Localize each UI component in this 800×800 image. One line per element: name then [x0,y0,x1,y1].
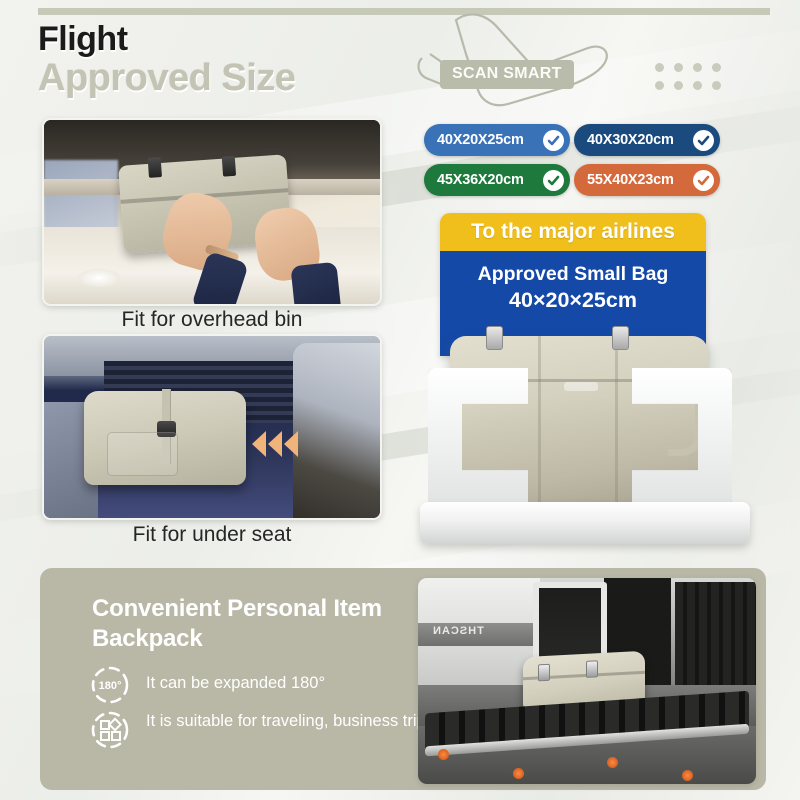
size-badge[interactable]: 45X36X20cm [424,164,570,196]
sizer-base [420,502,750,544]
photo-security-scanner: THSCAN [418,578,756,784]
sizer-demo [420,330,790,558]
photo-under-seat [42,334,382,520]
overhead-bin-scene [44,120,380,304]
under-seat-scene [44,336,380,518]
board-line-2: 40×20×25cm [440,287,706,314]
top-divider-rule [38,8,770,15]
scanner-brand-label: THSCAN [432,625,484,637]
arm-sleeve [290,261,341,306]
bag-clip-icon [612,326,629,350]
size-badge[interactable]: 55X40X23cm [574,164,720,196]
product-bag [84,391,245,486]
size-badge-label: 45X36X20cm [437,172,524,188]
infographic-page: Flight Approved Size SCAN SMART [0,0,800,800]
page-title: Flight Approved Size [38,20,295,100]
dot-grid-icon [655,63,722,90]
photo-overhead-bin [42,118,382,306]
check-circle-icon [693,130,714,151]
board-line-1: Approved Small Bag [440,262,706,287]
board-header-text: To the major airlines [440,213,706,251]
chevron-left-arrows-icon [252,431,298,457]
title-line-1: Flight [38,20,295,58]
check-circle-icon [543,170,564,191]
multi-use-squares-icon [88,708,132,752]
feature-bullet-text: It can be expanded 180° [146,663,325,694]
bag-clip-icon [486,326,503,350]
size-badge-label: 40X30X20cm [587,132,674,148]
feature-bullet: It is suitable for traveling, business t… [88,708,465,752]
bag-clip-icon [586,660,598,678]
size-badge[interactable]: 40X30X20cm [574,124,720,156]
size-badge-list: 40X20X25cm 40X30X20cm 45X36X20cm 55X40X2… [424,124,720,196]
bag-clip-icon [222,156,236,177]
expand-180-degrees-icon: 180° [88,663,132,707]
size-badge-label: 40X20X25cm [437,132,524,148]
check-circle-icon [693,170,714,191]
size-badge[interactable]: 40X20X25cm [424,124,570,156]
feature-panel-title: Convenient Personal Item Backpack [92,594,412,654]
scanner-scene: THSCAN [418,578,756,784]
caption-under-seat: Fit for under seat [42,523,382,547]
scan-smart-badge: SCAN SMART [440,60,574,89]
svg-text:180°: 180° [99,680,122,692]
bag-clip-icon [148,157,162,178]
feature-bullet: 180° It can be expanded 180° [88,663,325,707]
title-line-2: Approved Size [38,56,295,100]
check-circle-icon [543,130,564,151]
size-badge-label: 55X40X23cm [587,172,674,188]
bag-clip-icon [537,664,549,682]
caption-overhead-bin: Fit for overhead bin [42,308,382,332]
